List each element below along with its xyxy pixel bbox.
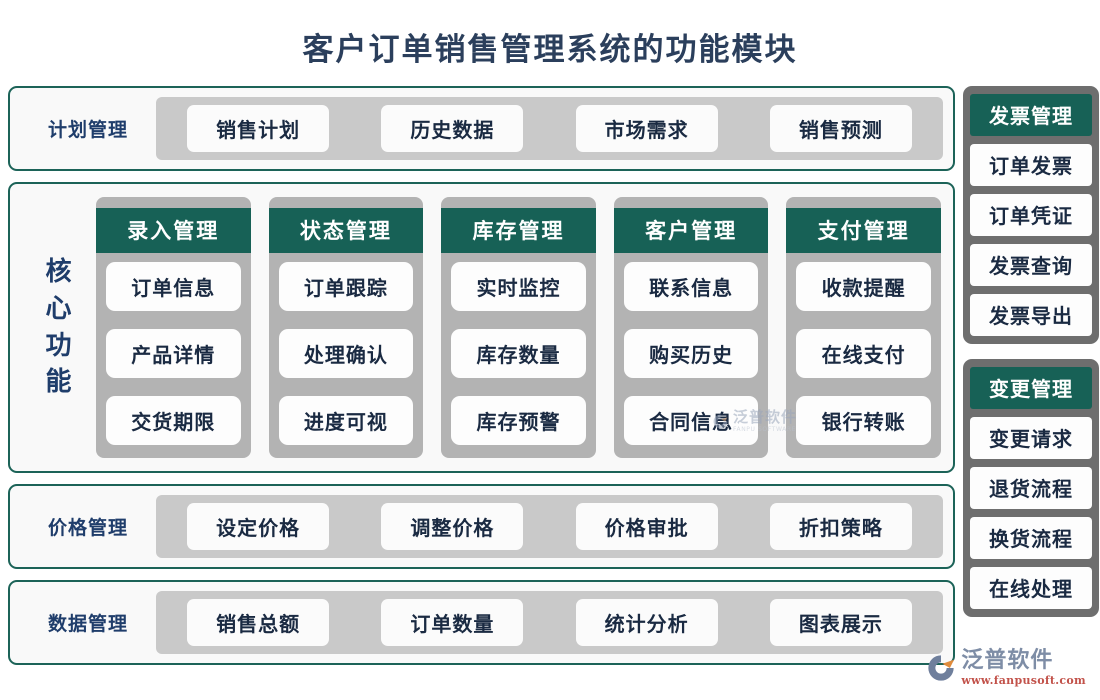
core-column-payment-management: 支付管理 收款提醒 在线支付 银行转账 xyxy=(786,197,941,458)
side-panel-invoice-management: 发票管理 订单发票 订单凭证 发票查询 发票导出 xyxy=(963,86,1099,344)
core-item-2-0[interactable]: 实时监控 xyxy=(451,262,586,311)
chip-price-3[interactable]: 折扣策略 xyxy=(770,503,912,550)
chip-data-0[interactable]: 销售总额 xyxy=(187,599,329,646)
core-item-4-2[interactable]: 银行转账 xyxy=(796,396,931,445)
core-item-0-1[interactable]: 产品详情 xyxy=(106,329,241,378)
core-label-char-0: 核 xyxy=(45,254,72,291)
side-item-0-2[interactable]: 发票查询 xyxy=(970,244,1092,286)
core-label-char-3: 能 xyxy=(45,364,72,401)
side-item-0-1[interactable]: 订单凭证 xyxy=(970,194,1092,236)
chip-data-3[interactable]: 图表展示 xyxy=(770,599,912,646)
core-column-items-4: 收款提醒 在线支付 银行转账 xyxy=(786,253,941,450)
band-strip-data: 销售总额 订单数量 统计分析 图表展示 xyxy=(156,591,943,654)
core-item-4-0[interactable]: 收款提醒 xyxy=(796,262,931,311)
core-label-char-1: 心 xyxy=(45,291,72,328)
core-column-head-4: 支付管理 xyxy=(786,208,941,253)
core-item-3-1[interactable]: 购买历史 xyxy=(624,329,759,378)
core-columns: 录入管理 订单信息 产品详情 交货期限 状态管理 订单跟踪 处理确认 进度可视 xyxy=(96,197,941,458)
diagram-layout: 计划管理 销售计划 历史数据 市场需求 销售预测 核 心 功 能 录入管理 订单… xyxy=(0,86,1100,656)
chip-price-2[interactable]: 价格审批 xyxy=(576,503,718,550)
core-item-3-0[interactable]: 联系信息 xyxy=(624,262,759,311)
band-plan-management: 计划管理 销售计划 历史数据 市场需求 销售预测 xyxy=(8,86,955,171)
brand-logo: 泛普软件 www.fanpusoft.com xyxy=(926,650,1086,686)
core-column-inventory-management: 库存管理 实时监控 库存数量 库存预警 xyxy=(441,197,596,458)
side-panel-head-0: 发票管理 xyxy=(970,94,1092,136)
core-item-0-0[interactable]: 订单信息 xyxy=(106,262,241,311)
band-strip-price: 设定价格 调整价格 价格审批 折扣策略 xyxy=(156,495,943,558)
core-label-char-2: 功 xyxy=(45,328,72,365)
core-column-items-1: 订单跟踪 处理确认 进度可视 xyxy=(269,253,424,450)
core-item-1-2[interactable]: 进度可视 xyxy=(279,396,414,445)
side-item-1-3[interactable]: 在线处理 xyxy=(970,567,1092,609)
side-item-1-2[interactable]: 换货流程 xyxy=(970,517,1092,559)
band-data-management: 数据管理 销售总额 订单数量 统计分析 图表展示 xyxy=(8,580,955,665)
brand-text: 泛普软件 www.fanpusoft.com xyxy=(961,650,1086,686)
core-column-items-3: 联系信息 购买历史 合同信息 xyxy=(614,253,769,450)
band-core-functions: 核 心 功 能 录入管理 订单信息 产品详情 交货期限 状态管理 xyxy=(8,182,955,473)
band-label-price: 价格管理 xyxy=(20,513,156,540)
chip-plan-3[interactable]: 销售预测 xyxy=(770,105,912,152)
fanpu-logo-icon xyxy=(926,653,956,683)
chip-plan-2[interactable]: 市场需求 xyxy=(576,105,718,152)
chip-data-2[interactable]: 统计分析 xyxy=(576,599,718,646)
left-column: 计划管理 销售计划 历史数据 市场需求 销售预测 核 心 功 能 录入管理 订单… xyxy=(8,86,955,665)
band-strip-plan: 销售计划 历史数据 市场需求 销售预测 xyxy=(156,97,943,160)
brand-name: 泛普软件 xyxy=(961,650,1086,672)
chip-plan-0[interactable]: 销售计划 xyxy=(187,105,329,152)
chip-price-1[interactable]: 调整价格 xyxy=(381,503,523,550)
core-item-4-1[interactable]: 在线支付 xyxy=(796,329,931,378)
core-column-items-2: 实时监控 库存数量 库存预警 xyxy=(441,253,596,450)
band-label-plan: 计划管理 xyxy=(20,115,156,142)
chip-data-1[interactable]: 订单数量 xyxy=(381,599,523,646)
core-item-2-2[interactable]: 库存预警 xyxy=(451,396,586,445)
core-column-head-3: 客户管理 xyxy=(614,208,769,253)
core-column-customer-management: 客户管理 联系信息 购买历史 合同信息 xyxy=(614,197,769,458)
core-column-head-2: 库存管理 xyxy=(441,208,596,253)
brand-url: www.fanpusoft.com xyxy=(961,675,1086,686)
core-column-items-0: 订单信息 产品详情 交货期限 xyxy=(96,253,251,450)
core-item-1-1[interactable]: 处理确认 xyxy=(279,329,414,378)
chip-price-0[interactable]: 设定价格 xyxy=(187,503,329,550)
side-item-0-0[interactable]: 订单发票 xyxy=(970,144,1092,186)
core-column-head-0: 录入管理 xyxy=(96,208,251,253)
side-panel-head-1: 变更管理 xyxy=(970,367,1092,409)
core-column-status-management: 状态管理 订单跟踪 处理确认 进度可视 xyxy=(269,197,424,458)
side-item-1-1[interactable]: 退货流程 xyxy=(970,467,1092,509)
core-functions-label: 核 心 功 能 xyxy=(22,197,96,458)
core-column-head-1: 状态管理 xyxy=(269,208,424,253)
core-item-1-0[interactable]: 订单跟踪 xyxy=(279,262,414,311)
core-item-2-1[interactable]: 库存数量 xyxy=(451,329,586,378)
core-item-0-2[interactable]: 交货期限 xyxy=(106,396,241,445)
side-item-0-3[interactable]: 发票导出 xyxy=(970,294,1092,336)
chip-plan-1[interactable]: 历史数据 xyxy=(381,105,523,152)
right-column: 发票管理 订单发票 订单凭证 发票查询 发票导出 变更管理 变更请求 退货流程 … xyxy=(963,86,1099,617)
core-item-3-2[interactable]: 合同信息 xyxy=(624,396,759,445)
band-label-data: 数据管理 xyxy=(20,609,156,636)
side-panel-change-management: 变更管理 变更请求 退货流程 换货流程 在线处理 xyxy=(963,359,1099,617)
side-item-1-0[interactable]: 变更请求 xyxy=(970,417,1092,459)
page-title: 客户订单销售管理系统的功能模块 xyxy=(0,0,1100,80)
band-price-management: 价格管理 设定价格 调整价格 价格审批 折扣策略 xyxy=(8,484,955,569)
core-column-entry-management: 录入管理 订单信息 产品详情 交货期限 xyxy=(96,197,251,458)
